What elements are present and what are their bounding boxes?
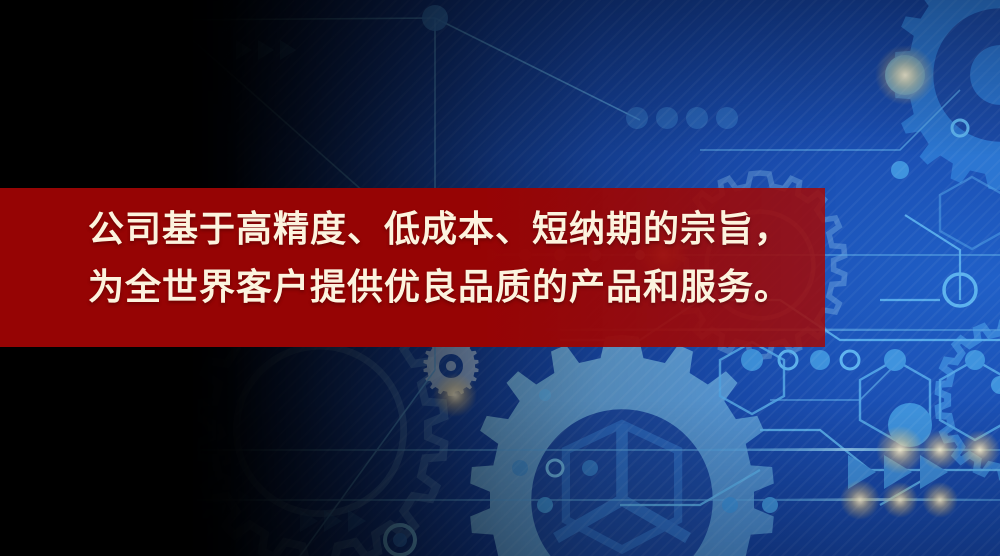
slide-canvas: 公司基于高精度、低成本、短纳期的宗旨， 为全世界客户提供优良品质的产品和服务。 — [0, 0, 1000, 556]
slogan-line-2: 为全世界客户提供优良品质的产品和服务。 — [88, 258, 808, 316]
slogan-text: 公司基于高精度、低成本、短纳期的宗旨， 为全世界客户提供优良品质的产品和服务。 — [88, 200, 808, 316]
slogan-line-1: 公司基于高精度、低成本、短纳期的宗旨， — [88, 200, 808, 258]
